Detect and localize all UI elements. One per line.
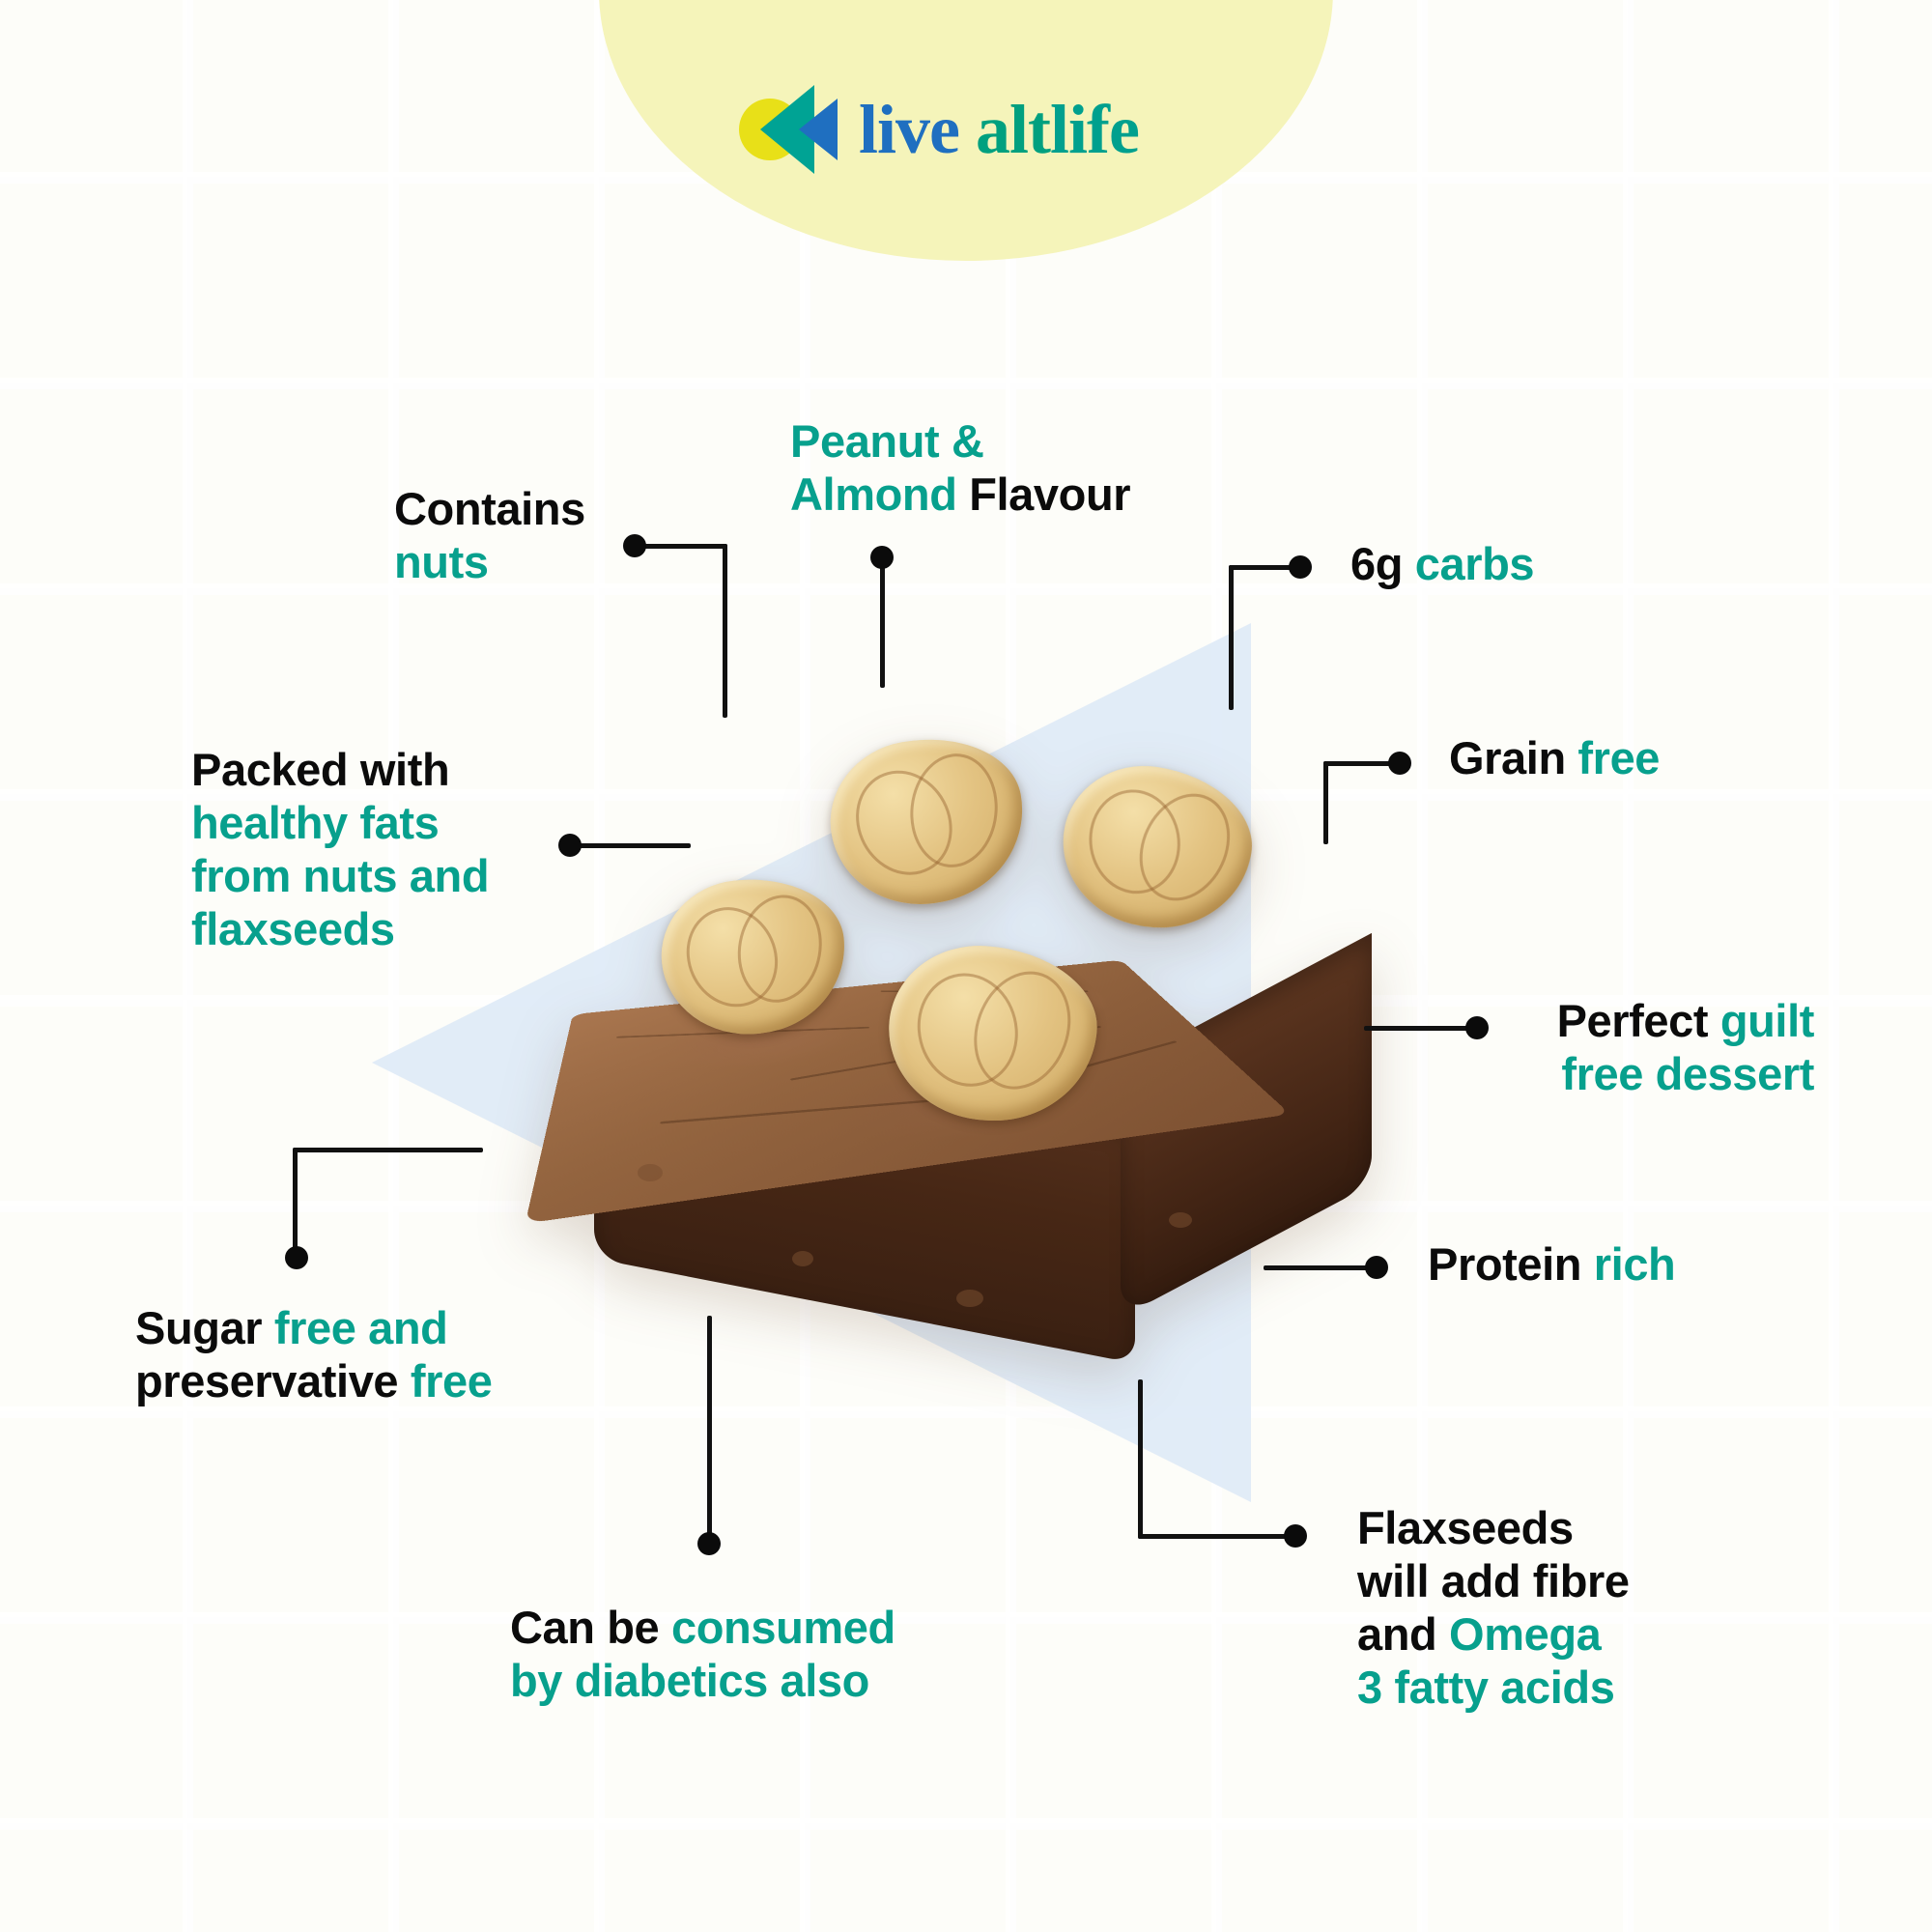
connector-segment [293,1148,298,1256]
callout-line: Can be consumed [510,1602,895,1655]
connector-dot [1284,1524,1307,1548]
accent-text: flaxseeds [191,903,395,954]
accent-text: Almond [790,469,969,520]
connector-dot [870,546,894,569]
callout-line: will add fibre [1357,1555,1630,1608]
callout-packed-healthy-fats: Packed withhealthy fatsfrom nuts andflax… [191,744,489,956]
connector-segment [293,1148,483,1152]
accent-text: Peanut & [790,415,984,467]
logo-blue-arrow [799,99,838,160]
callout-line: Flaxseeds [1357,1502,1630,1555]
accent-text: consumed [671,1602,895,1653]
plain-text: Contains [394,483,585,534]
brownie-crumb [956,1290,983,1307]
callout-line: and Omega [1357,1608,1630,1662]
connector-dot [1388,752,1411,775]
brownie-crumb [638,1164,663,1181]
callout-line: Peanut & [790,415,1130,469]
livealtlife-arrow-logo-icon [739,85,843,174]
callout-line: Perfect guilt [1225,995,1814,1048]
callout-line: preservative free [135,1355,492,1408]
connector-segment [723,544,727,718]
brand-logo: live altlife [739,85,1139,174]
connector-segment [1138,1379,1143,1539]
connector-segment [1229,565,1234,710]
plain-text: Can be [510,1602,671,1653]
callout-contains-nuts: Containsnuts [394,483,585,589]
connector-segment [707,1316,712,1538]
connector-dot [1289,555,1312,579]
connector-segment [570,843,691,848]
callout-line: Grain free [1449,732,1660,785]
callout-line: Packed with [191,744,489,797]
walnut-topping [818,724,1037,919]
connector-dot [558,834,582,857]
plain-text: Flaxseeds [1357,1502,1574,1553]
callout-line: 6g carbs [1350,538,1534,591]
connector-segment [1323,761,1394,766]
infographic-canvas: live altlife [0,0,1932,1932]
callout-flaxseeds-omega: Flaxseedswill add fibreand Omega3 fatty … [1357,1502,1630,1715]
callout-line: healthy fats [191,797,489,850]
accent-text: free [1577,732,1660,783]
plain-text: Sugar [135,1302,274,1353]
callout-line: Sugar free and [135,1302,492,1355]
accent-text: from nuts and [191,850,489,901]
connector-dot [285,1246,308,1269]
wordmark-alt: alt [976,91,1050,168]
connector-segment [1229,565,1294,570]
accent-text: by diabetics also [510,1655,869,1706]
accent-text: Omega [1449,1608,1601,1660]
callout-line: by diabetics also [510,1655,895,1708]
callout-line: flaxseeds [191,903,489,956]
accent-text: guilt [1720,995,1814,1046]
callout-line: free dessert [1225,1048,1814,1101]
accent-text: nuts [394,536,489,587]
callout-line: 3 fatty acids [1357,1662,1630,1715]
plain-text: will add fibre [1357,1555,1630,1606]
callout-peanut-almond-flavour: Peanut &Almond Flavour [790,415,1130,522]
connector-dot [623,534,646,557]
accent-text: rich [1594,1238,1676,1290]
accent-text: 3 fatty acids [1357,1662,1614,1713]
connector-segment [1323,761,1328,844]
plain-text: Grain [1449,732,1577,783]
connector-segment [880,557,885,688]
wordmark-live: live [859,91,959,168]
callout-line: from nuts and [191,850,489,903]
callout-line: Protein rich [1428,1238,1675,1292]
plain-text: Perfect [1557,995,1720,1046]
callout-line: Contains [394,483,585,536]
accent-text: carbs [1415,538,1534,589]
plain-text: Packed with [191,744,449,795]
brand-wordmark: live altlife [859,95,1139,164]
plain-text: Flavour [969,469,1130,520]
plain-text: preservative [135,1355,411,1406]
callout-line: Almond Flavour [790,469,1130,522]
callout-line: nuts [394,536,585,589]
connector-segment [1138,1534,1290,1539]
accent-text: free dessert [1561,1048,1814,1099]
plain-text: and [1357,1608,1449,1660]
accent-text: healthy fats [191,797,439,848]
callout-carbs: 6g carbs [1350,538,1534,591]
accent-text: free [411,1355,493,1406]
connector-segment [635,544,727,549]
plain-text: Protein [1428,1238,1594,1290]
callout-grain-free: Grain free [1449,732,1660,785]
callout-guilt-free-dessert: Perfect guiltfree dessert [1225,995,1814,1101]
plain-text: 6g [1350,538,1415,589]
brownie-crumb [792,1251,813,1266]
callout-diabetics: Can be consumedby diabetics also [510,1602,895,1708]
connector-dot [1365,1256,1388,1279]
connector-dot [697,1532,721,1555]
wordmark-life: life [1050,91,1139,168]
walnut-topping [1051,754,1262,941]
brownie-crumb [1169,1212,1192,1228]
callout-protein-rich: Protein rich [1428,1238,1675,1292]
accent-text: free and [274,1302,448,1353]
callout-sugar-preservative-free: Sugar free andpreservative free [135,1302,492,1408]
connector-segment [1264,1265,1370,1270]
